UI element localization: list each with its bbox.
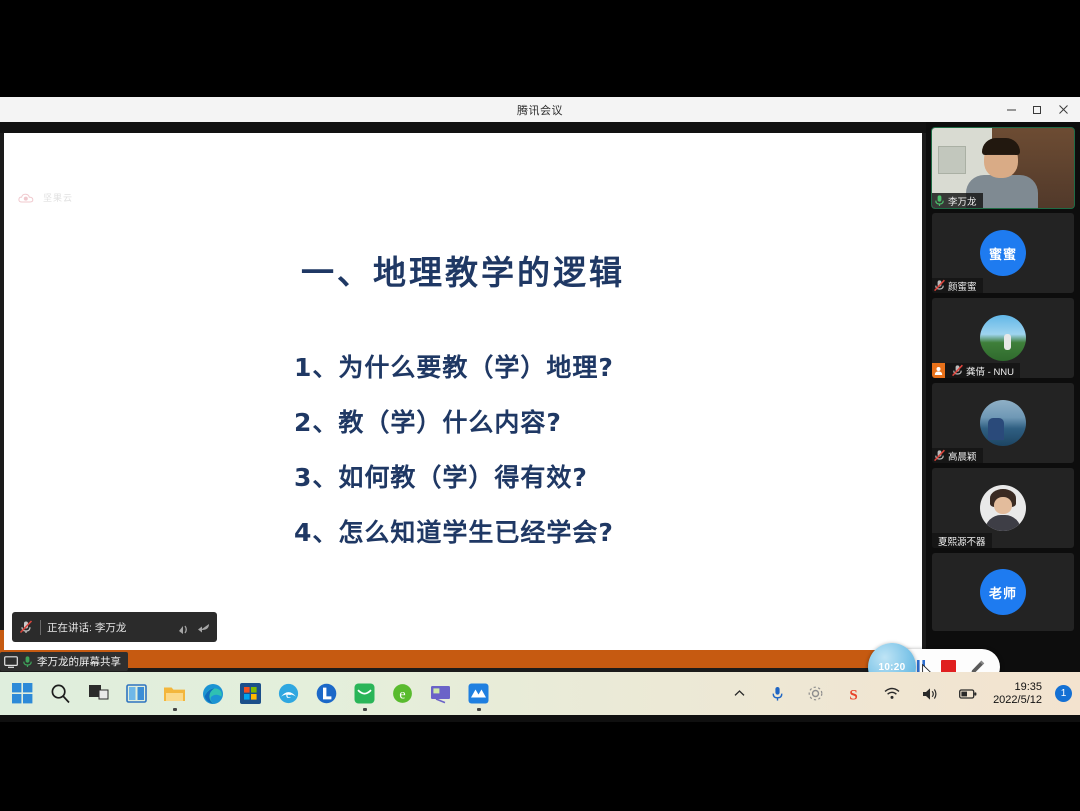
meeting-window: 腾讯会议 坚果云 一、地理教学的逻辑: [0, 97, 1080, 722]
slide-watermark: 坚果云: [18, 191, 73, 204]
return-arrow-icon: [197, 621, 211, 634]
slide-title: 一、地理教学的逻辑: [4, 246, 922, 294]
app-title: 腾讯会议: [517, 102, 563, 118]
settings-icon[interactable]: [803, 681, 828, 706]
chevron-up-icon[interactable]: [727, 681, 752, 706]
slide-item-1: 1、为什么要教（学）地理?: [294, 348, 614, 384]
participant-name: 龚倩 - NNU: [966, 364, 1014, 378]
avatar: [980, 485, 1026, 531]
slide-bullet-list: 1、为什么要教（学）地理? 2、教（学）什么内容? 3、如何教（学）得有效? 4…: [294, 348, 614, 568]
speaker-bar-divider: [40, 620, 41, 635]
sogou-ime-icon[interactable]: S: [841, 681, 866, 706]
participant-tile-0[interactable]: 李万龙: [932, 128, 1074, 208]
host-badge-icon: [932, 363, 945, 378]
participant-name: 夏熙源不器: [938, 534, 986, 548]
content-top-strip: [0, 122, 926, 133]
participant-name: 李万龙: [948, 194, 977, 208]
remote-desktop-icon[interactable]: [428, 681, 453, 706]
participant-tile-3[interactable]: 高晨颖: [932, 383, 1074, 463]
shared-screen-area[interactable]: 坚果云 一、地理教学的逻辑 1、为什么要教（学）地理? 2、教（学）什么内容? …: [4, 133, 922, 650]
participant-name: 高晨颖: [948, 449, 977, 463]
svg-text:S: S: [849, 687, 857, 702]
start-button[interactable]: [10, 681, 35, 706]
mic-icon: [934, 194, 945, 207]
participant-tile-2[interactable]: 龚倩 - NNU: [932, 298, 1074, 378]
wechat-icon[interactable]: [352, 681, 377, 706]
participant-name-badge: 高晨颖: [932, 448, 983, 463]
screen-bottom-edge: [0, 715, 1080, 722]
sound-wave-icon: [173, 620, 195, 635]
meeting-body: 坚果云 一、地理教学的逻辑 1、为什么要教（学）地理? 2、教（学）什么内容? …: [0, 122, 1080, 722]
speaking-label: 正在讲话: 李万龙: [47, 620, 126, 635]
avatar: 蜜蜜: [980, 230, 1026, 276]
avatar: 老师: [980, 569, 1026, 615]
notification-badge[interactable]: 1: [1055, 685, 1072, 702]
participant-tile-5[interactable]: 老师: [932, 553, 1074, 631]
participant-name-badge: 颜蜜蜜: [932, 278, 983, 293]
cloud-icon: [18, 192, 34, 204]
search-icon[interactable]: [48, 681, 73, 706]
active-speaker-bar: 正在讲话: 李万龙: [12, 612, 217, 642]
microphone-icon[interactable]: [765, 681, 790, 706]
slide-item-4: 4、怎么知道学生已经学会?: [294, 513, 614, 549]
avatar: [980, 315, 1026, 361]
mic-muted-icon: [18, 619, 34, 635]
edge-browser-icon[interactable]: [200, 681, 225, 706]
lenovo-icon[interactable]: [314, 681, 339, 706]
taskbar-apps[interactable]: e e: [10, 681, 491, 706]
mic-muted-icon: [934, 279, 945, 292]
close-icon[interactable]: [1050, 97, 1076, 122]
participant-rail[interactable]: 李万龙 蜜蜜 颜蜜蜜: [926, 122, 1080, 722]
slide-item-3: 3、如何教（学）得有效?: [294, 458, 614, 494]
system-tray[interactable]: S 19:35 2022/5/12 1: [727, 681, 1072, 707]
monitor-icon: [4, 656, 18, 668]
ie-green-icon[interactable]: e: [390, 681, 415, 706]
speaker-bar-actions[interactable]: [173, 620, 211, 635]
svg-text:e: e: [286, 687, 291, 701]
mic-muted-icon: [952, 364, 963, 377]
restore-icon[interactable]: [1024, 97, 1050, 122]
participant-name-badge: 龚倩 - NNU: [932, 363, 1020, 378]
ie-legacy-icon[interactable]: e: [276, 681, 301, 706]
clock-date: 2022/5/12: [993, 694, 1042, 707]
mic-icon: [22, 655, 33, 668]
participant-name-badge: 夏熙源不器: [932, 533, 992, 548]
slide-item-2: 2、教（学）什么内容?: [294, 403, 614, 439]
taskbar-clock[interactable]: 19:35 2022/5/12: [993, 681, 1042, 707]
task-view-icon[interactable]: [86, 681, 111, 706]
share-owner-tag: 李万龙的屏幕共享: [0, 652, 128, 671]
avatar: [980, 400, 1026, 446]
title-bar: 腾讯会议: [0, 97, 1080, 122]
share-border-bottom: [0, 650, 926, 668]
minimize-icon[interactable]: [998, 97, 1024, 122]
mic-muted-icon: [934, 449, 945, 462]
wifi-icon[interactable]: [879, 681, 904, 706]
share-owner-label: 李万龙的屏幕共享: [37, 654, 121, 669]
file-explorer-icon[interactable]: [162, 681, 187, 706]
participant-name: 颜蜜蜜: [948, 279, 977, 293]
window-controls: [998, 97, 1076, 122]
watermark-text: 坚果云: [43, 191, 73, 204]
svg-text:e: e: [399, 688, 405, 703]
participant-tile-4[interactable]: 夏熙源不器: [932, 468, 1074, 548]
participant-tile-1[interactable]: 蜜蜜 颜蜜蜜: [932, 213, 1074, 293]
battery-icon[interactable]: [955, 681, 980, 706]
meeting-app-icon[interactable]: [466, 681, 491, 706]
widgets-icon[interactable]: [124, 681, 149, 706]
windows-taskbar[interactable]: e e S: [0, 672, 1080, 715]
participant-name-badge: 李万龙: [932, 193, 983, 208]
volume-icon[interactable]: [917, 681, 942, 706]
microsoft-store-icon[interactable]: [238, 681, 263, 706]
clock-time: 19:35: [993, 681, 1042, 694]
